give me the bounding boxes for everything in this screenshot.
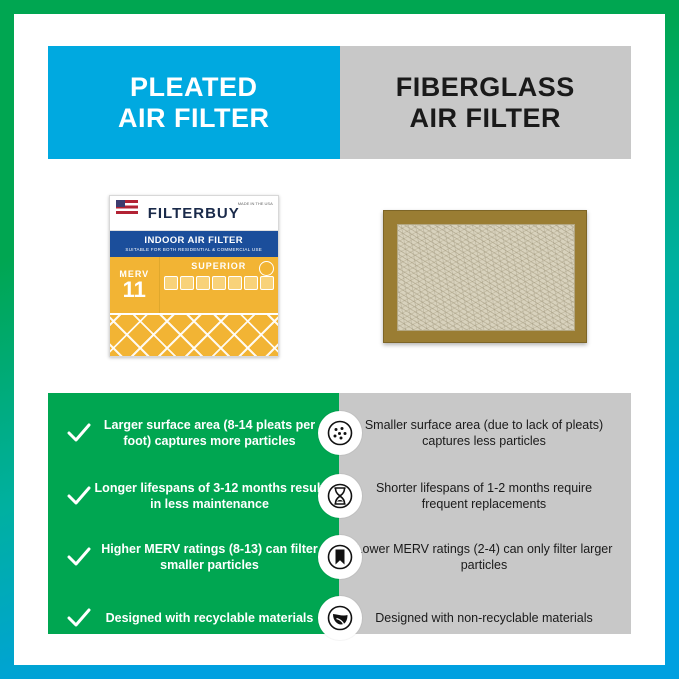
row-3-left-text: Higher MERV ratings (8-13) can filter sm… <box>94 541 325 573</box>
capability-icon-1 <box>164 276 178 290</box>
pleated-image-cell: FILTERBUY MADE IN THE USA INDOOR AIR FIL… <box>48 159 340 393</box>
pleated-title: PLEATED AIR FILTER <box>118 72 269 132</box>
fiberglass-filter-image <box>383 210 587 343</box>
check-icon <box>64 607 94 629</box>
row-2-right-text: Shorter lifespans of 1-2 months require … <box>353 480 615 512</box>
table-row: Longer lifespans of 3-12 months result i… <box>48 466 631 526</box>
fiberglass-title: FIBERGLASS AIR FILTER <box>396 72 575 132</box>
brand-name: FILTERBUY <box>148 205 240 222</box>
bookmark-icon <box>318 535 362 579</box>
check-icon <box>64 422 94 444</box>
row-3-left: Higher MERV ratings (8-13) can filter sm… <box>48 541 339 573</box>
merv-block: MERV 11 <box>110 257 160 313</box>
pleat-diamond-pattern <box>110 315 278 357</box>
usa-flag-icon <box>116 200 138 214</box>
label-top-bar: FILTERBUY MADE IN THE USA <box>110 196 278 231</box>
table-row: Higher MERV ratings (8-13) can filter sm… <box>48 527 631 587</box>
row-2-right: Shorter lifespans of 1-2 months require … <box>339 480 631 512</box>
capability-icon-7 <box>260 276 274 290</box>
label-yellow-band: MERV 11 SUPERIOR <box>110 257 278 313</box>
capability-icon-6 <box>244 276 258 290</box>
pleat-media-area: FILTERBUY <box>110 313 278 357</box>
table-row: Designed with recyclable materials Desig… <box>48 588 631 648</box>
row-1-left: Larger surface area (8-14 pleats per foo… <box>48 417 339 449</box>
capability-icons <box>164 276 274 290</box>
particles-icon <box>318 411 362 455</box>
row-4-left-text: Designed with recyclable materials <box>94 610 325 626</box>
leaf-recycle-icon <box>318 596 362 640</box>
pleated-title-line2: AIR FILTER <box>118 103 269 133</box>
comparison-poster: PLEATED AIR FILTER FIBERGLASS AIR FILTER… <box>0 0 679 679</box>
row-4-left: Designed with recyclable materials <box>48 607 339 629</box>
fiberglass-image-cell <box>340 159 632 393</box>
column-headers: PLEATED AIR FILTER FIBERGLASS AIR FILTER <box>48 46 631 159</box>
capability-icon-4 <box>212 276 226 290</box>
label-band-subtitle: SUITABLE FOR BOTH RESIDENTIAL & COMMERCI… <box>110 247 278 252</box>
table-row: Larger surface area (8-14 pleats per foo… <box>48 403 631 463</box>
row-2-left-text: Longer lifespans of 3-12 months result i… <box>94 480 325 512</box>
row-2-left: Longer lifespans of 3-12 months result i… <box>48 480 339 512</box>
pleated-filter-image: FILTERBUY MADE IN THE USA INDOOR AIR FIL… <box>109 195 279 357</box>
row-4-right-text: Designed with non-recyclable materials <box>353 610 615 626</box>
made-in-usa-note: MADE IN THE USA <box>238 202 273 207</box>
merv-value: 11 <box>123 279 146 301</box>
check-icon <box>64 485 94 507</box>
header-pleated: PLEATED AIR FILTER <box>48 46 340 159</box>
fiberglass-mesh <box>397 224 575 331</box>
row-1-right-text: Smaller surface area (due to lack of ple… <box>353 417 615 449</box>
label-band-title: INDOOR AIR FILTER <box>110 235 278 246</box>
fiberglass-title-line1: FIBERGLASS <box>396 72 575 102</box>
header-fiberglass: FIBERGLASS AIR FILTER <box>340 46 632 159</box>
capability-icon-2 <box>180 276 194 290</box>
row-1-right: Smaller surface area (due to lack of ple… <box>339 417 631 449</box>
certification-badge-icon <box>259 261 274 276</box>
label-blue-band: INDOOR AIR FILTER SUITABLE FOR BOTH RESI… <box>110 231 278 257</box>
capability-icon-3 <box>196 276 210 290</box>
check-icon <box>64 546 94 568</box>
row-3-right: Lower MERV ratings (2-4) can only filter… <box>339 541 631 573</box>
fiberglass-title-line2: AIR FILTER <box>410 103 561 133</box>
poster-content: PLEATED AIR FILTER FIBERGLASS AIR FILTER… <box>48 46 631 634</box>
row-3-right-text: Lower MERV ratings (2-4) can only filter… <box>353 541 615 573</box>
comparison-rows: Larger surface area (8-14 pleats per foo… <box>48 393 631 634</box>
row-4-right: Designed with non-recyclable materials <box>339 610 631 626</box>
capability-icon-5 <box>228 276 242 290</box>
pleated-title-line1: PLEATED <box>130 72 258 102</box>
hourglass-icon <box>318 474 362 518</box>
row-1-left-text: Larger surface area (8-14 pleats per foo… <box>94 417 325 449</box>
product-images: FILTERBUY MADE IN THE USA INDOOR AIR FIL… <box>48 159 631 393</box>
